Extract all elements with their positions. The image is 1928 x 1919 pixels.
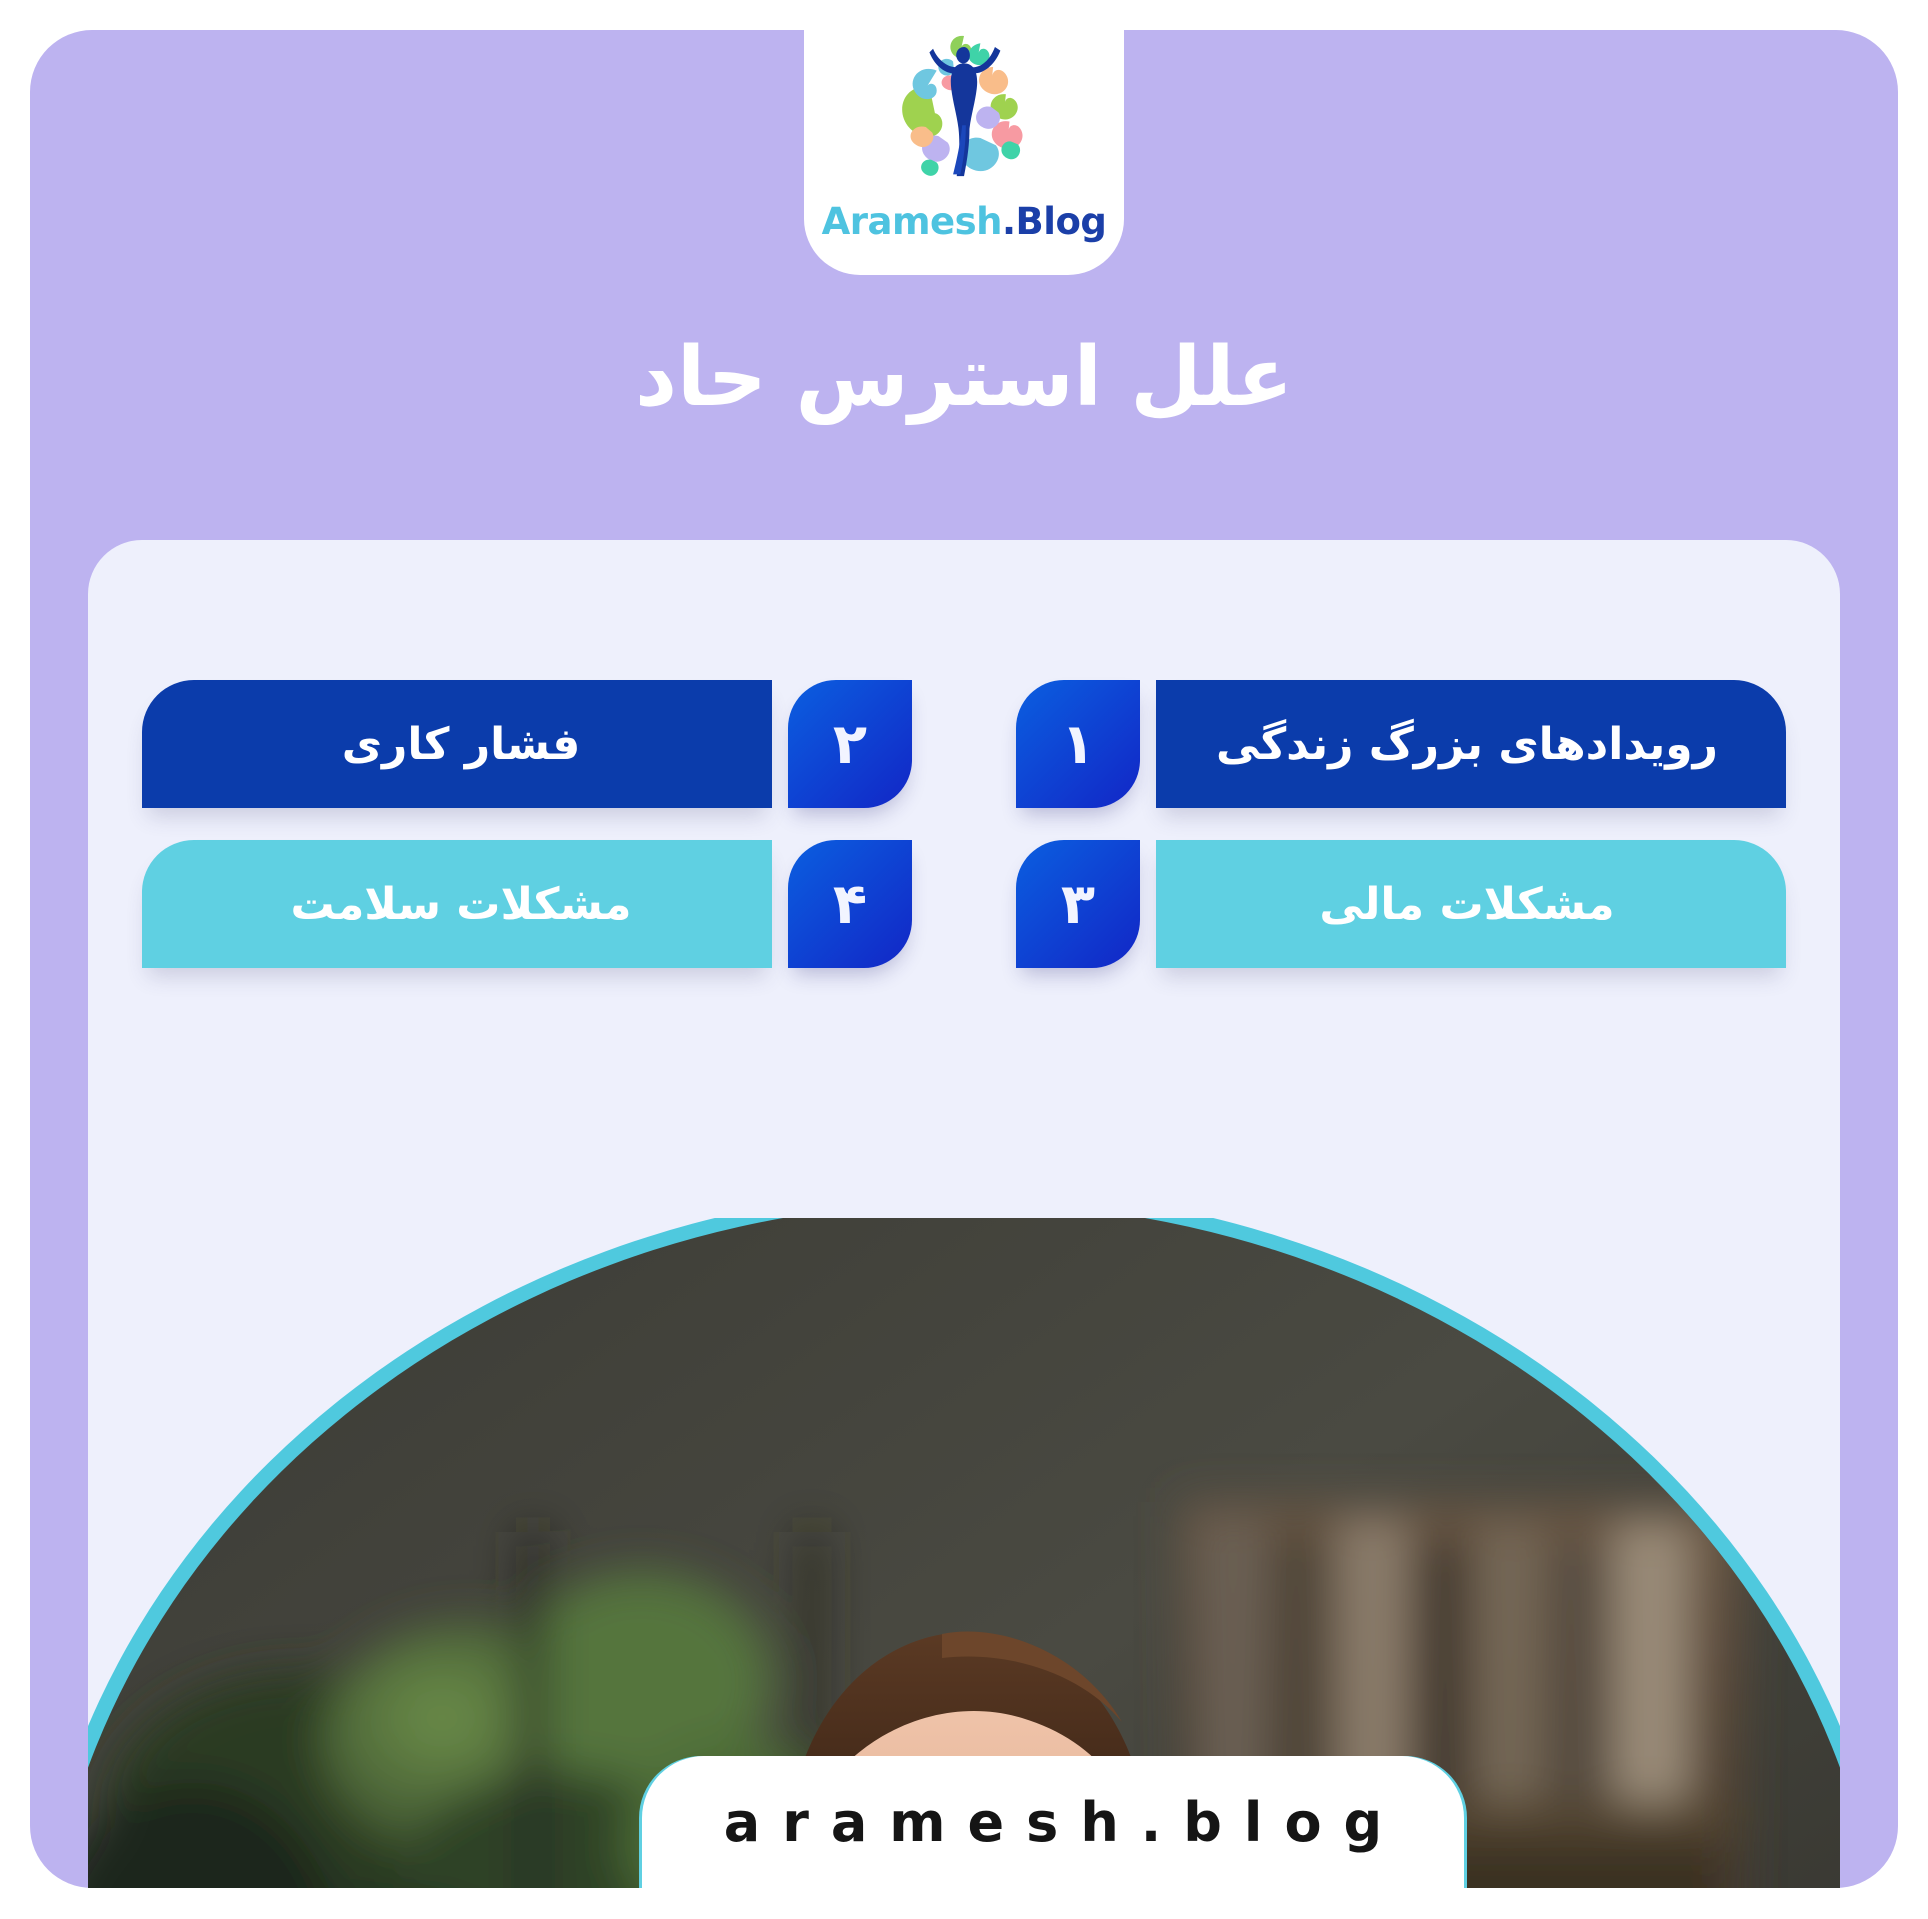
tree-person-logo-icon: [873, 16, 1055, 198]
cause-item-3-label: مشکلات مالی: [1319, 879, 1614, 930]
photo-section: aramesh.blog: [88, 1218, 1840, 1888]
cause-badge-1-number: ۱: [1061, 712, 1095, 777]
website-footer: aramesh.blog: [642, 1756, 1464, 1888]
cause-item-2[interactable]: فشار کاری: [142, 680, 772, 808]
poster-root: Aramesh.Blog علل استرس حاد رویدادهای بزر…: [0, 0, 1928, 1919]
cause-badge-3: ۳: [1016, 840, 1140, 968]
cause-badge-4-number: ۴: [833, 872, 867, 937]
logo-wordmark: Aramesh.Blog: [822, 200, 1107, 243]
cause-item-2-label: فشار کاری: [342, 719, 581, 770]
cause-badge-1: ۱: [1016, 680, 1140, 808]
logo-name-primary: Aramesh: [822, 200, 1002, 243]
logo-container: Aramesh.Blog: [804, 0, 1124, 275]
content-card: رویدادهای بزرگ زندگی ۱ ۲ فشار کاری مشکلا…: [88, 540, 1840, 1888]
logo-name-secondary: .Blog: [1002, 200, 1106, 243]
cause-item-4[interactable]: مشکلات سلامت: [142, 840, 772, 968]
cause-badge-2: ۲: [788, 680, 912, 808]
cause-item-4-label: مشکلات سلامت: [290, 879, 631, 930]
page-title: علل استرس حاد: [0, 330, 1928, 425]
list-row: رویدادهای بزرگ زندگی ۱ ۲ فشار کاری: [88, 680, 1840, 808]
cause-item-3[interactable]: مشکلات مالی: [1156, 840, 1786, 968]
cause-badge-3-number: ۳: [1061, 872, 1095, 937]
cause-item-1-label: رویدادهای بزرگ زندگی: [1216, 719, 1718, 770]
cause-badge-4: ۴: [788, 840, 912, 968]
website-url: aramesh.blog: [702, 1791, 1404, 1854]
list-row: مشکلات مالی ۳ ۴ مشکلات سلامت: [88, 840, 1840, 968]
cause-list: رویدادهای بزرگ زندگی ۱ ۲ فشار کاری مشکلا…: [88, 540, 1840, 1000]
cause-item-1[interactable]: رویدادهای بزرگ زندگی: [1156, 680, 1786, 808]
cause-badge-2-number: ۲: [833, 712, 867, 777]
